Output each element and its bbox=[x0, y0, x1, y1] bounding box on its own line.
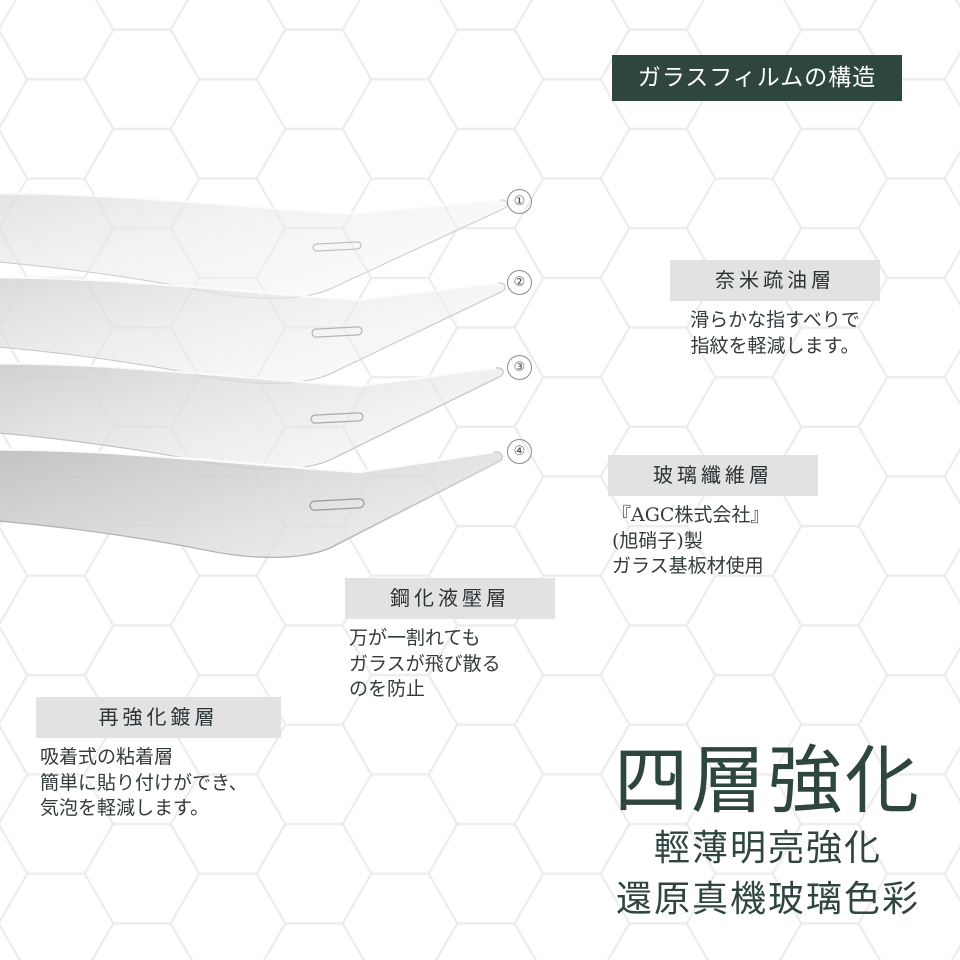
layer-title-adhesive: 再強化鍍層 bbox=[36, 697, 281, 738]
layer-title-glassfiber: 玻璃纖維層 bbox=[608, 455, 818, 496]
banner-title: ガラスフィルムの構造 bbox=[638, 67, 877, 90]
layer-info-adhesive: 再強化鍍層 吸着式の粘着層 簡単に貼り付けができ、 気泡を軽減します。 bbox=[36, 697, 281, 822]
callout-marker-3: ③ bbox=[507, 355, 532, 380]
layer-description-tempered: 万が一割れても ガラスが飛び散る のを防止 bbox=[345, 626, 555, 703]
layer-info-glassfiber: 玻璃纖維層 『AGC株式会社』 (旭硝子)製 ガラス基板材使用 bbox=[608, 455, 818, 580]
layer-description-adhesive: 吸着式の粘着層 簡単に貼り付けができ、 気泡を軽減します。 bbox=[36, 745, 281, 822]
hero-subline-1: 輕薄明亮強化 bbox=[614, 826, 922, 873]
product-infographic: ガラスフィルムの構造 ① ② ③ ④ 奈米疏油層 滑らかな指すべりで 指紋を軽減… bbox=[0, 0, 960, 960]
hero-copy: 四層強化 輕薄明亮強化 還原真機玻璃色彩 bbox=[614, 743, 922, 924]
callout-marker-1: ① bbox=[507, 189, 532, 214]
layer-title-tempered: 鋼化液壓層 bbox=[345, 578, 555, 619]
callout-marker-4: ④ bbox=[507, 439, 532, 464]
layer-description-oleophobic: 滑らかな指すべりで 指紋を軽減します。 bbox=[670, 308, 880, 359]
hero-subline-2: 還原真機玻璃色彩 bbox=[614, 877, 922, 924]
layer-info-tempered: 鋼化液壓層 万が一割れても ガラスが飛び散る のを防止 bbox=[345, 578, 555, 703]
layer-title-oleophobic: 奈米疏油層 bbox=[670, 260, 880, 301]
layer-description-glassfiber: 『AGC株式会社』 (旭硝子)製 ガラス基板材使用 bbox=[608, 503, 818, 580]
layer-info-oleophobic: 奈米疏油層 滑らかな指すべりで 指紋を軽減します。 bbox=[670, 260, 880, 359]
header-banner: ガラスフィルムの構造 bbox=[612, 55, 902, 101]
hero-headline: 四層強化 bbox=[614, 743, 922, 821]
callout-marker-2: ② bbox=[507, 270, 532, 295]
